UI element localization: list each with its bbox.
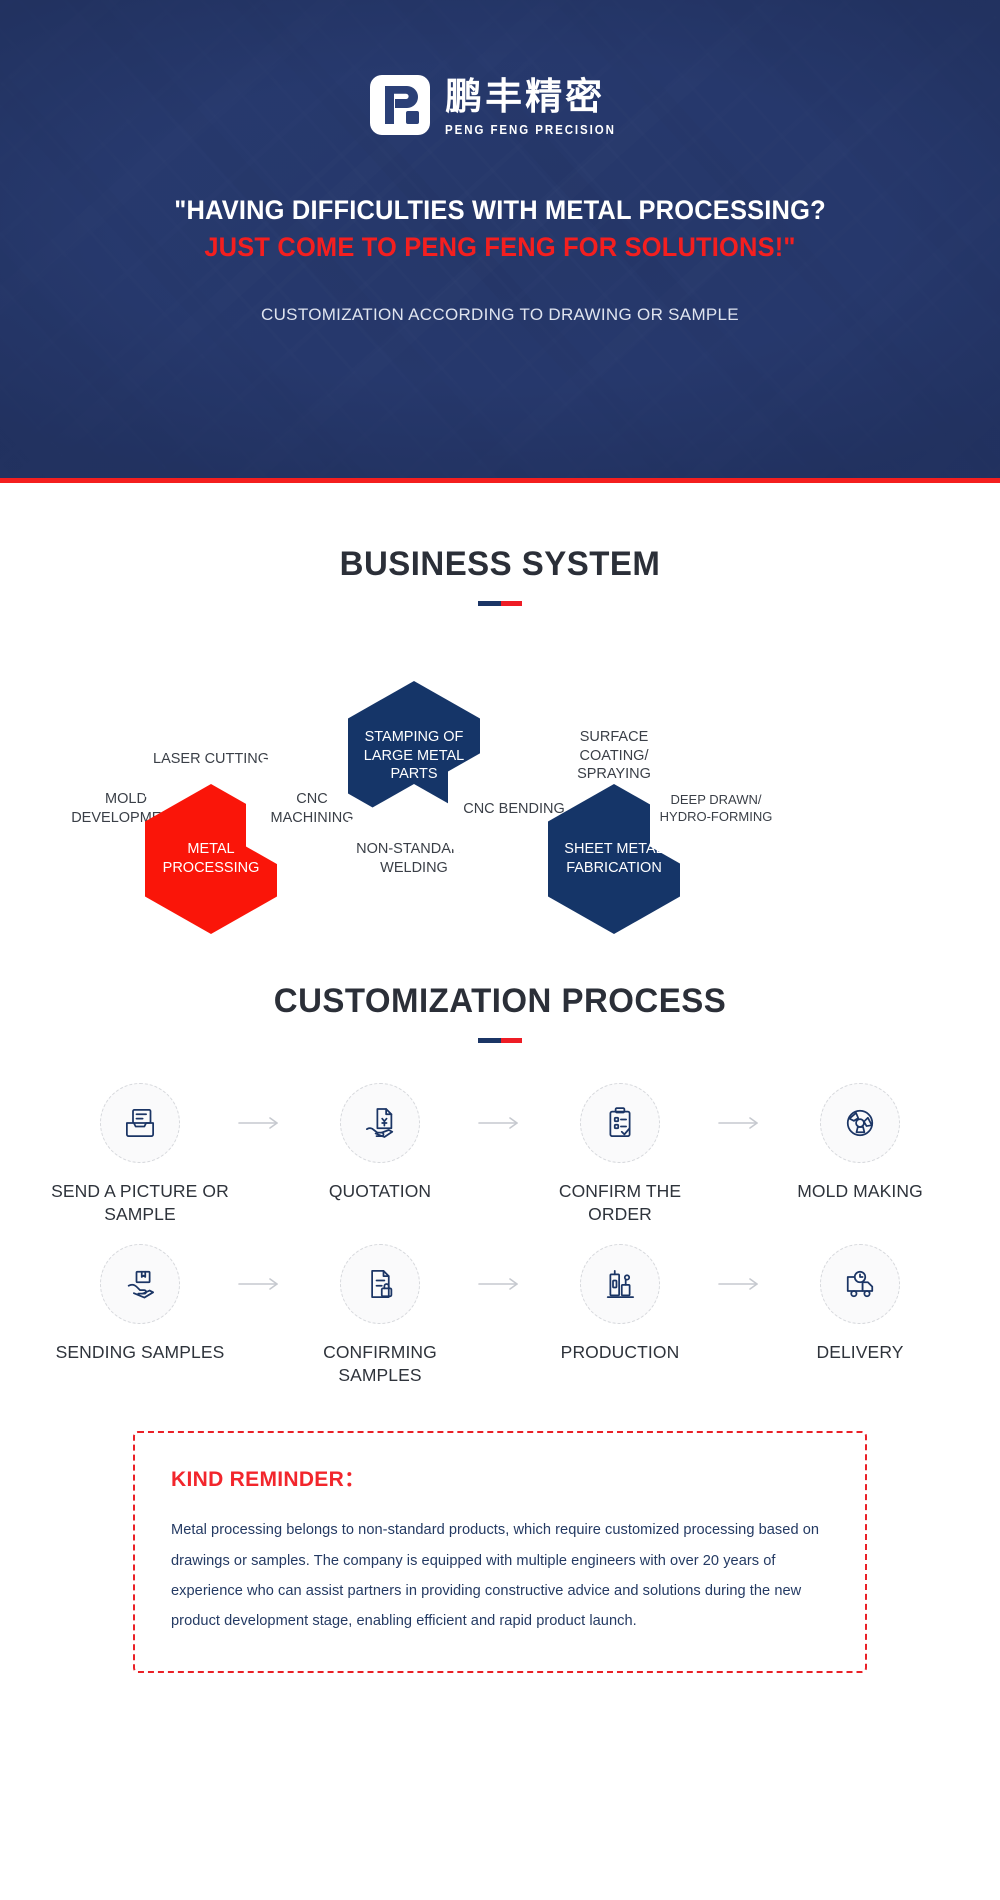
customization-process-section: CUSTOMIZATION PROCESS SEND A PICTURE OR … (0, 938, 1000, 1387)
process-step[interactable]: SEND A PICTURE OR SAMPLE (47, 1083, 233, 1226)
mold-disc-icon (820, 1083, 900, 1163)
arrow-right-icon (713, 1244, 767, 1324)
hexagon-label: DEEP DRAWN/ HYDRO-FORMING (658, 792, 774, 825)
business-system-title: BUSINESS SYSTEM (15, 545, 985, 584)
landing-page: 鹏丰精密 PENG FENG PRECISION "HAVING DIFFICU… (0, 0, 1000, 1900)
process-step-label: SENDING SAMPLES (56, 1341, 225, 1364)
reminder-body: Metal processing belongs to non-standard… (171, 1515, 829, 1636)
document-inbox-icon (100, 1083, 180, 1163)
business-system-section: BUSINESS SYSTEM MOLD DEVELOPMENTLASER CU… (0, 483, 1000, 938)
process-step[interactable]: CONFIRMING SAMPLES (287, 1244, 473, 1387)
section-divider-2 (478, 1038, 522, 1043)
divider-navy-segment (478, 601, 501, 606)
divider-red-segment (501, 601, 522, 606)
logo-english-name: PENG FENG PRECISION (445, 123, 616, 137)
hand-holding-price-document-icon (340, 1083, 420, 1163)
logo-chinese-name: 鹏丰精密 (445, 78, 631, 117)
process-step-label: QUOTATION (329, 1180, 431, 1203)
hexagon-label: LASER CUTTING (153, 750, 269, 769)
hand-holding-box-icon (100, 1244, 180, 1324)
machine-production-icon (580, 1244, 660, 1324)
process-step-label: PRODUCTION (561, 1341, 680, 1364)
process-row-2: SENDING SAMPLESCONFIRMING SAMPLESPRODUCT… (0, 1244, 1000, 1387)
process-steps: SEND A PICTURE OR SAMPLEQUOTATIONCONFIRM… (0, 1083, 1000, 1387)
arrow-right-icon (473, 1083, 527, 1163)
kind-reminder-box: KIND REMINDER： Metal processing belongs … (133, 1431, 867, 1672)
process-step[interactable]: QUOTATION (287, 1083, 473, 1203)
hero-headline-white: "HAVING DIFFICULTIES WITH METAL PROCESSI… (174, 195, 826, 225)
section-divider (478, 601, 522, 606)
hexagon-label: CNC BENDING (463, 800, 565, 819)
hero-subline: CUSTOMIZATION ACCORDING TO DRAWING OR SA… (0, 305, 1000, 325)
divider-navy-segment (478, 1038, 501, 1043)
arrow-right-icon (233, 1244, 287, 1324)
arrow-right-icon (713, 1083, 767, 1163)
process-step[interactable]: SENDING SAMPLES (47, 1244, 233, 1364)
arrow-right-icon (233, 1083, 287, 1163)
customization-process-title: CUSTOMIZATION PROCESS (15, 982, 985, 1021)
delivery-truck-icon (820, 1244, 900, 1324)
hero-headline: "HAVING DIFFICULTIES WITH METAL PROCESSI… (20, 192, 980, 265)
process-row-1: SEND A PICTURE OR SAMPLEQUOTATIONCONFIRM… (0, 1083, 1000, 1226)
process-step-label: DELIVERY (816, 1341, 903, 1364)
hero-headline-red: JUST COME TO PENG FENG FOR SOLUTIONS!" (20, 229, 980, 266)
hexagon-grid: MOLD DEVELOPMENTLASER CUTTINGMETAL PROCE… (0, 638, 1000, 938)
clipboard-check-icon (580, 1083, 660, 1163)
process-step[interactable]: MOLD MAKING (767, 1083, 953, 1203)
reminder-title: KIND REMINDER： (171, 1463, 829, 1493)
process-step-label: CONFIRMING SAMPLES (287, 1341, 473, 1387)
hero-banner: 鹏丰精密 PENG FENG PRECISION "HAVING DIFFICU… (0, 0, 1000, 483)
arrow-right-icon (473, 1244, 527, 1324)
company-logo: 鹏丰精密 PENG FENG PRECISION (0, 74, 1000, 141)
divider-red-segment (501, 1038, 522, 1043)
pf-monogram-icon (369, 74, 431, 141)
process-step[interactable]: PRODUCTION (527, 1244, 713, 1364)
process-step[interactable]: CONFIRM THE ORDER (527, 1083, 713, 1226)
process-step-label: CONFIRM THE ORDER (527, 1180, 713, 1226)
process-step-label: SEND A PICTURE OR SAMPLE (47, 1180, 233, 1226)
document-lock-icon (340, 1244, 420, 1324)
hero-red-rule (0, 478, 1000, 483)
process-step[interactable]: DELIVERY (767, 1244, 953, 1364)
process-step-label: MOLD MAKING (797, 1180, 923, 1203)
